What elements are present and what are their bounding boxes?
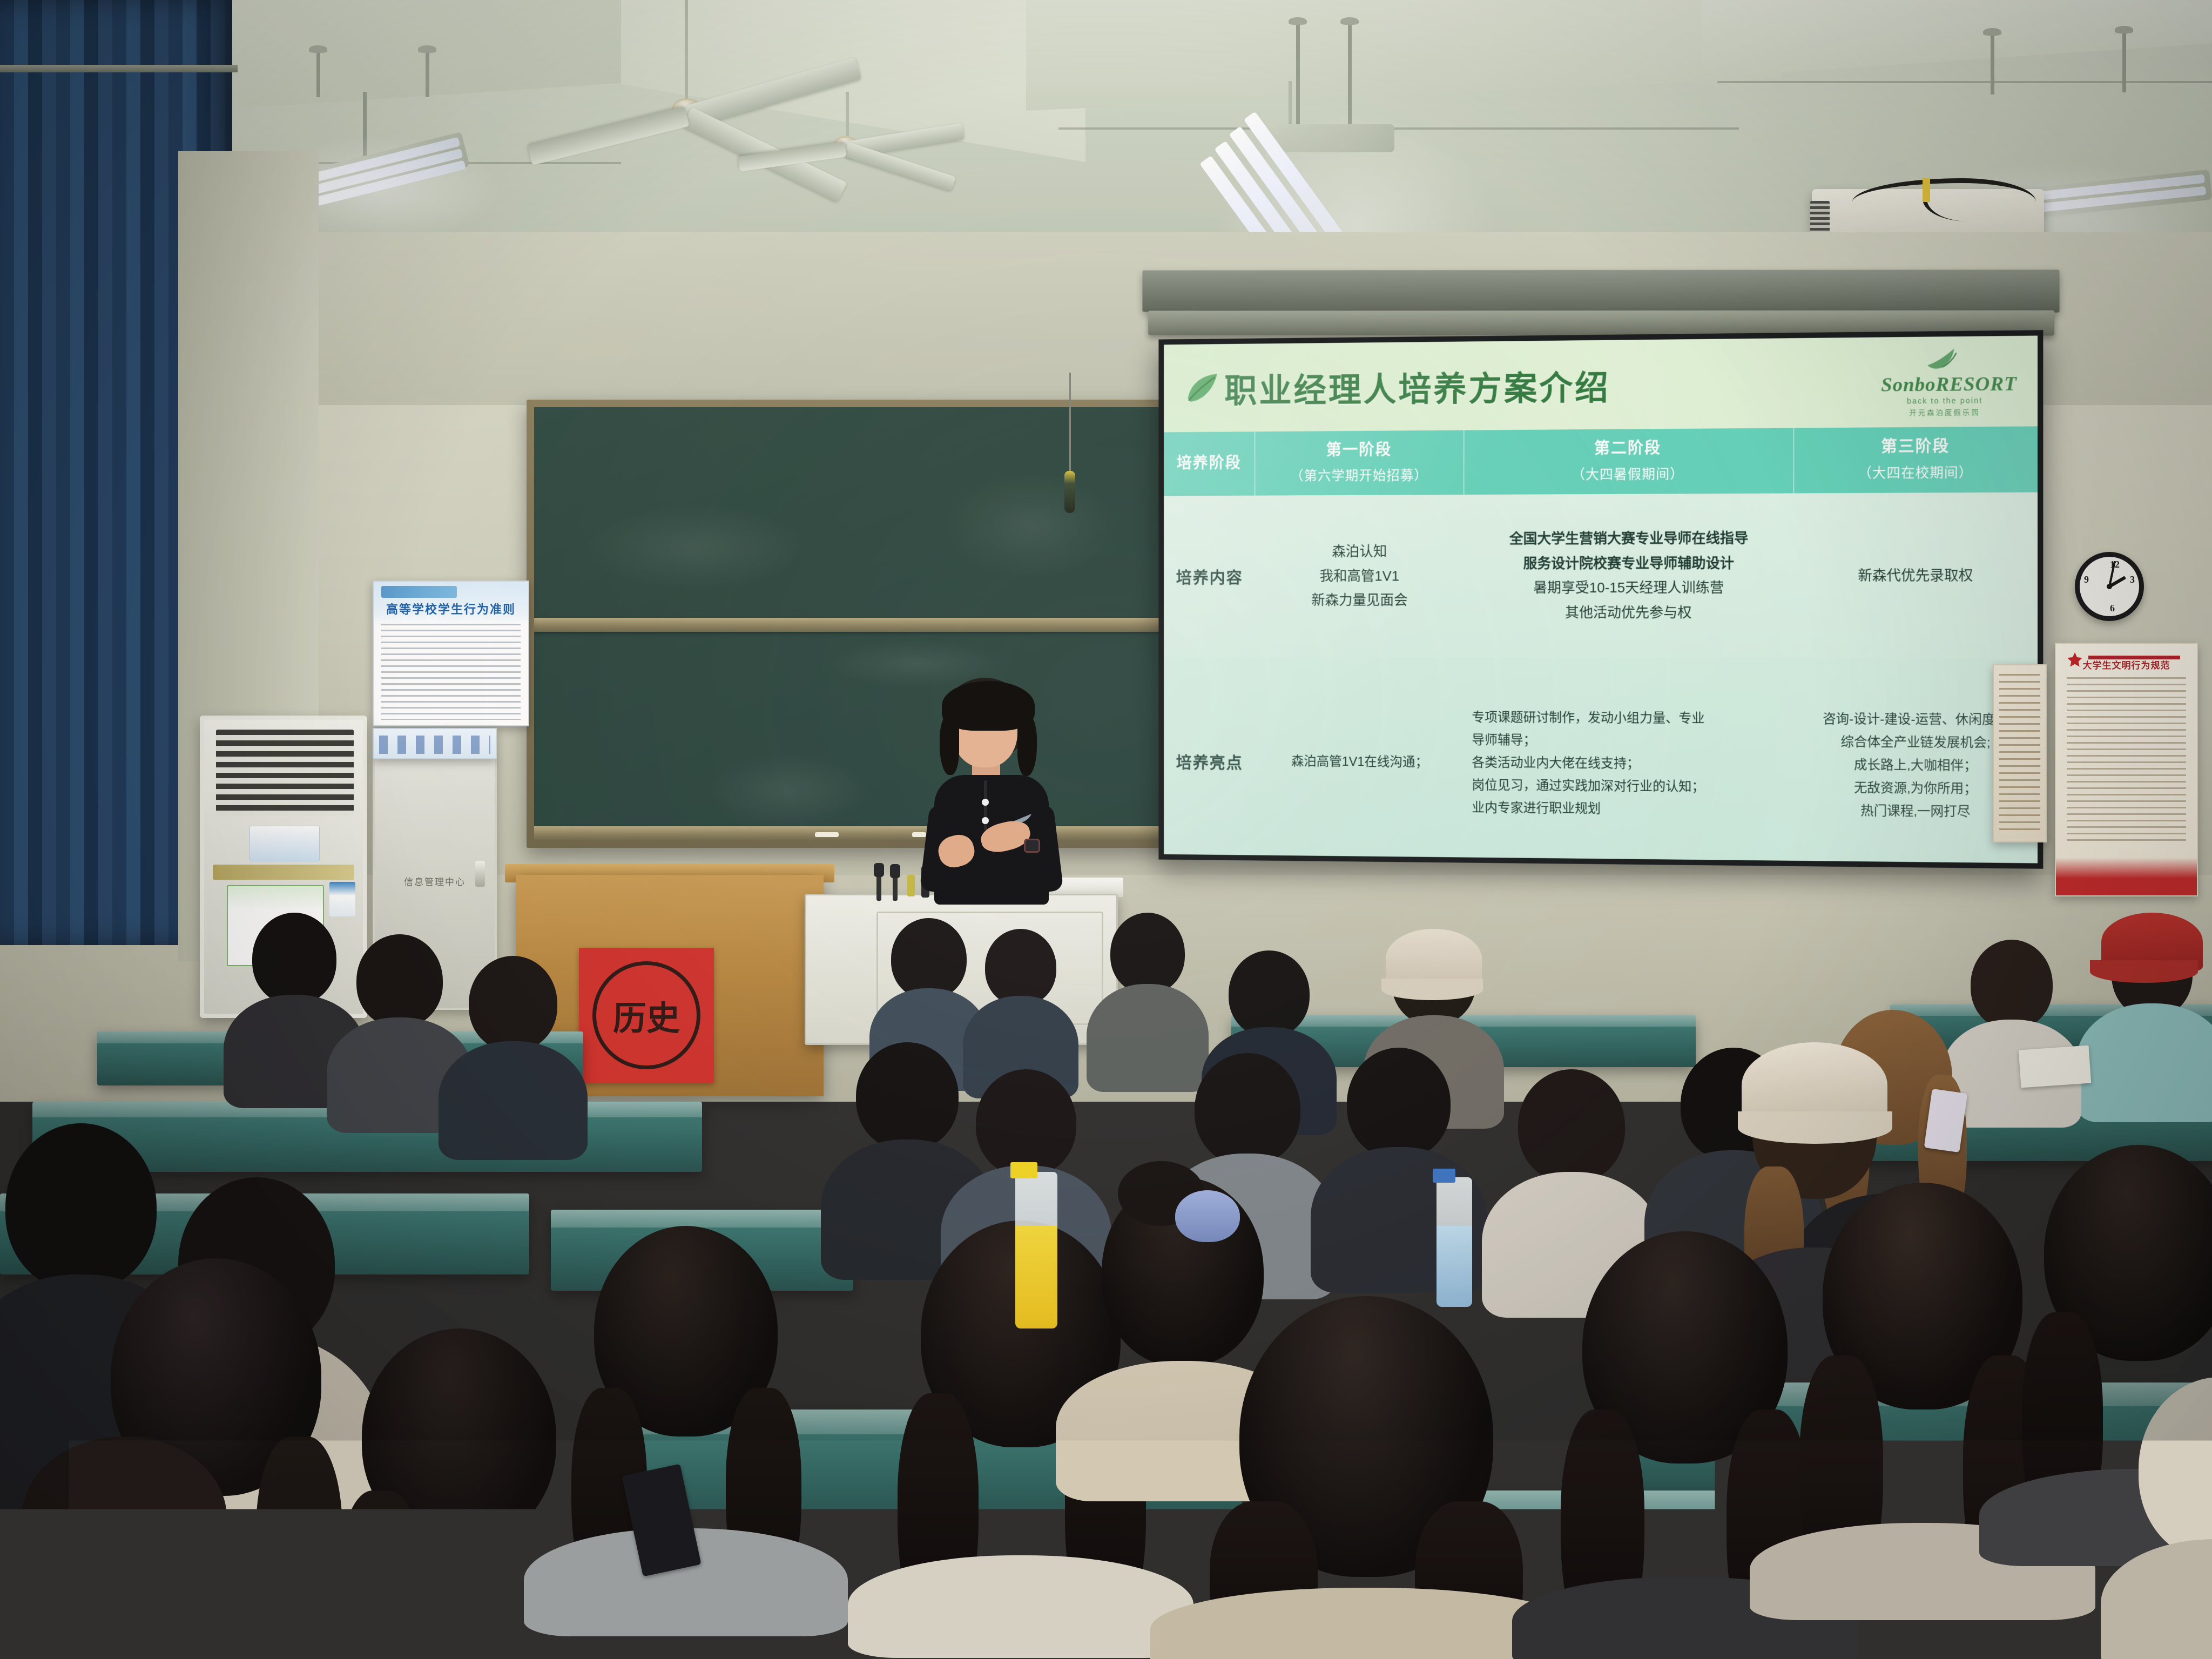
cell-phase2-content: 全国大学生营销大赛专业导师在线指导 服务设计院校赛专业导师辅助设计 暑期享受10… (1465, 493, 1795, 658)
classroom-scene: 职业经理人培养方案介绍 SonboRESORT back to the poin… (0, 0, 2212, 1659)
poster-secondary (1993, 664, 2047, 842)
cell-phase1-content: 森泊认知 我和高管1V1 新森力量见面会 (1256, 495, 1465, 657)
cell-phase1-highlights: 森泊高管1V1在线沟通； (1256, 657, 1465, 863)
screen-mount-rail (1142, 269, 2059, 312)
header-cell-phase1: 第一阶段 （第六学期开始招募） (1256, 430, 1465, 496)
presentation-slide: 职业经理人培养方案介绍 SonboRESORT back to the poin… (1164, 336, 2038, 864)
notebook (770, 1459, 959, 1582)
brand-cn-name: 开元森泊度假乐园 (1881, 406, 2008, 417)
table-row: 培养亮点 森泊高管1V1在线沟通； 专项课题研讨制作，发动小组力量、专业 导师辅… (1164, 657, 2038, 863)
brand-name: SonboRESORT (1881, 374, 2008, 394)
wall-clock: 12 3 6 9 (2075, 552, 2144, 621)
header-cell-phase3: 第三阶段 （大四在校期间） (1794, 426, 2038, 493)
star-icon (2066, 651, 2084, 670)
cell-phase2-highlights: 专项课题研讨制作，发动小组力量、专业 导师辅导； 各类活动业内大佬在线支持； 岗… (1465, 657, 1795, 863)
header-cell-phase2: 第二阶段 （大四暑假期间） (1465, 428, 1795, 495)
row-label-content: 培养内容 (1164, 496, 1255, 657)
poster-civility: 大学生文明行为规范 (2055, 643, 2198, 896)
student (448, 956, 578, 1150)
poster-notice (373, 728, 497, 759)
slide-title: 职业经理人培养方案介绍 (1224, 360, 1610, 412)
student (0, 1437, 313, 1659)
slide-table: 培养阶段 第一阶段 （第六学期开始招募） 第二阶段 （大四暑假期间） 第三阶段 … (1164, 426, 2038, 863)
projection-screen: 职业经理人培养方案介绍 SonboRESORT back to the poin… (1158, 330, 2043, 869)
cabinet-handle[interactable] (475, 861, 485, 887)
student (2106, 1377, 2212, 1659)
student-with-red-cap (2085, 913, 2212, 1107)
podium-sticker: 历史 (579, 948, 714, 1083)
header-cell-stage: 培养阶段 (1164, 431, 1255, 496)
slide-header: 职业经理人培养方案介绍 SonboRESORT back to the poin… (1164, 336, 2038, 433)
table-header-row: 培养阶段 第一阶段 （第六学期开始招募） 第二阶段 （大四暑假期间） 第三阶段 … (1164, 426, 2038, 496)
leaf-icon (1186, 372, 1219, 405)
presenter (913, 678, 1069, 905)
paper-sheet (671, 1474, 787, 1561)
blackboard (527, 400, 1175, 848)
brand-logo: SonboRESORT back to the point 开元森泊度假乐园 (1881, 346, 2008, 417)
curtain-rod (0, 65, 238, 72)
paper-sheet (2019, 1046, 2092, 1088)
table-row: 培养内容 森泊认知 我和高管1V1 新森力量见面会 全国大学生营销大赛专业导师在… (1164, 493, 2038, 659)
cell-phase3-content: 新森代优先录取权 (1794, 493, 2038, 659)
brand-tagline: back to the point (1881, 396, 2008, 406)
row-label-highlights: 培养亮点 (1164, 657, 1255, 863)
student (1177, 1296, 1555, 1659)
student (967, 929, 1075, 1091)
bird-icon (1925, 346, 1964, 370)
poster-student-code: 高等学校学生行为准则 (373, 581, 529, 726)
hair-scrunchie (1175, 1190, 1240, 1242)
